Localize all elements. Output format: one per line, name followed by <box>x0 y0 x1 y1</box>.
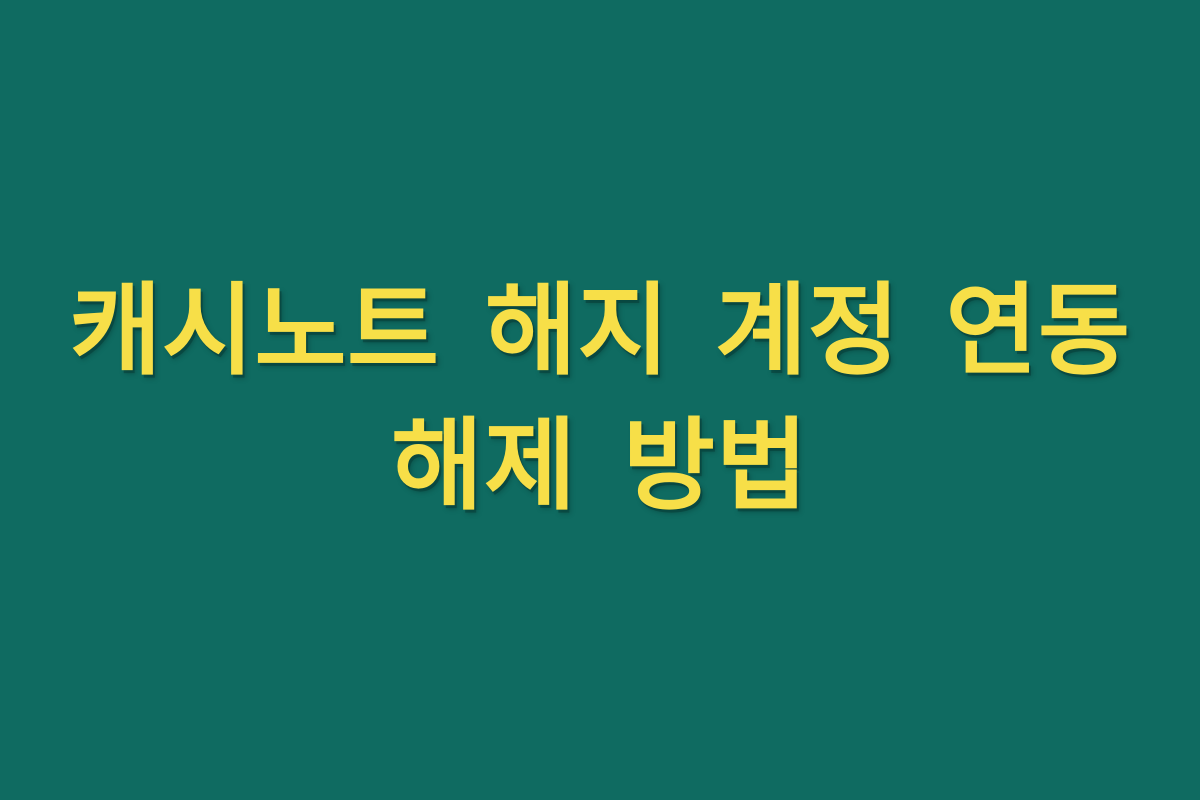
page-title: 캐시노트 해지 계정 연동 해제 방법 <box>50 263 1150 533</box>
title-line-2: 해제 방법 <box>50 398 1150 533</box>
banner-card: 캐시노트 해지 계정 연동 해제 방법 <box>0 0 1200 800</box>
title-line-1: 캐시노트 해지 계정 연동 <box>50 263 1150 398</box>
